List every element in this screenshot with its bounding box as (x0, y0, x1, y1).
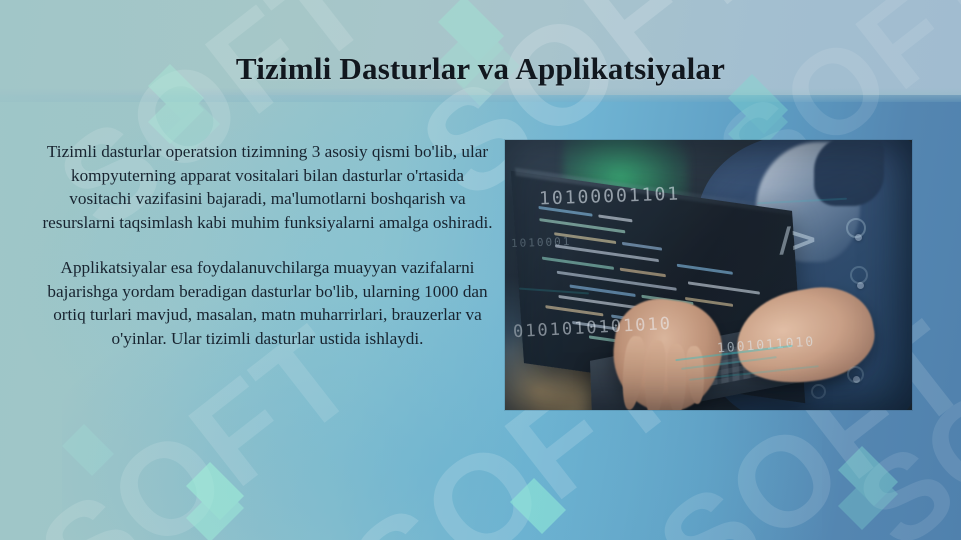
slide-title: Tizimli Dasturlar va Applikatsiyalar (0, 51, 961, 87)
presentation-slide: SOFT SOFT SOFT SOFT SOFT SOFT SOFT (0, 0, 961, 540)
image-vignette (505, 140, 912, 410)
slide-body-text: Tizimli dasturlar operatsion tizimning 3… (40, 140, 495, 351)
paragraph-applications: Applikatsiyalar esa foydalanuvchilarga m… (40, 256, 495, 351)
paragraph-system-programs: Tizimli dasturlar operatsion tizimning 3… (40, 140, 495, 235)
slide-image-programmer-laptop: 10100001101 0101010101010 1001011010 101… (505, 140, 912, 410)
